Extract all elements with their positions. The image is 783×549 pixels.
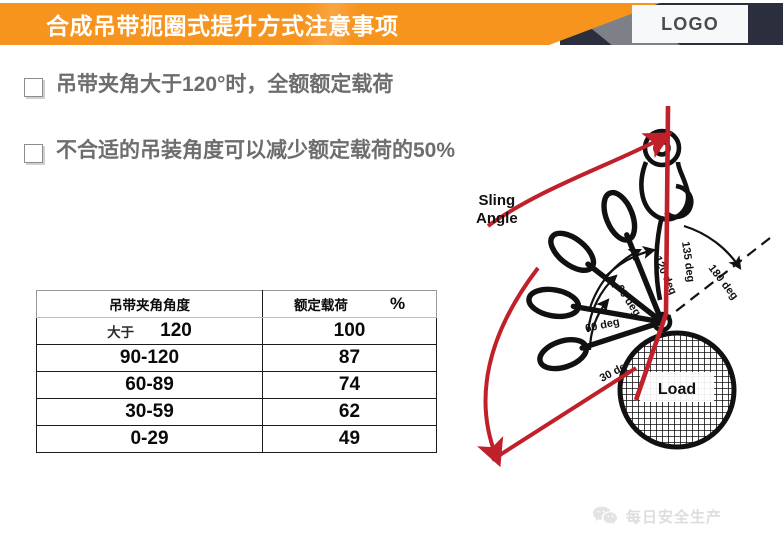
cell-rated: 62 (263, 399, 437, 426)
sling-angle-diagram: 30 deg 60 deg 90 deg 120 deg 135 deg 180… (440, 100, 783, 490)
square-outline-icon (24, 78, 43, 97)
sling-angle-line2: Angle (476, 210, 518, 228)
cell-angle: 30-59 (37, 399, 263, 426)
sling-angle-label: Sling Angle (476, 192, 518, 227)
column-header-angle: 吊带夹角角度 (37, 291, 263, 318)
cell-angle-value: 120 (160, 320, 192, 342)
table-header-row: 吊带夹角角度 额定载荷 % (37, 291, 437, 318)
column-header-rated: 额定载荷 % (263, 291, 437, 318)
cell-rated: 100 (263, 318, 437, 345)
load-label: Load (658, 381, 696, 398)
column-header-unit: % (390, 294, 405, 314)
list-item: 吊带夹角大于120°时，全额额定载荷 (24, 72, 584, 98)
table-row: 30-59 62 (37, 399, 437, 426)
logo-text: LOGO (661, 14, 719, 35)
red-diagonal-lower (492, 368, 636, 460)
watermark: 每日安全生产 (592, 505, 722, 527)
cell-rated: 74 (263, 372, 437, 399)
page-title: 合成吊带扼圈式提升方式注意事项 (46, 3, 399, 45)
bullet-text: 吊带夹角大于120°时，全额额定载荷 (56, 72, 393, 98)
wechat-icon (592, 505, 618, 527)
square-outline-icon (24, 144, 43, 163)
table-row: 0-29 49 (37, 426, 437, 453)
cell-angle: 60-89 (37, 372, 263, 399)
sling-diagram-svg: 30 deg 60 deg 90 deg 120 deg 135 deg 180… (440, 100, 783, 490)
angle-label-135: 135 deg (679, 241, 697, 283)
bullet-text: 不合适的吊装角度可以减少额定载荷的50% (56, 138, 455, 164)
cell-rated: 49 (263, 426, 437, 453)
rated-load-table: 吊带夹角角度 额定载荷 % 大于 120 (36, 290, 436, 453)
table-row: 90-120 87 (37, 345, 437, 372)
watermark-text: 每日安全生产 (626, 506, 722, 527)
cell-rated: 87 (263, 345, 437, 372)
cell-angle: 大于 120 (37, 318, 263, 345)
cell-angle: 0-29 (37, 426, 263, 453)
table-row: 60-89 74 (37, 372, 437, 399)
angle-label-180: 180 deg (706, 262, 741, 302)
slide: 合成吊带扼圈式提升方式注意事项 LOGO 吊带夹角大于120°时，全额额定载荷 … (0, 0, 783, 549)
cell-angle: 90-120 (37, 345, 263, 372)
column-header-rated-label: 额定载荷 (294, 294, 348, 314)
logo-placeholder: LOGO (632, 5, 748, 43)
table-row: 大于 120 100 (37, 318, 437, 345)
sling-angle-line1: Sling (476, 192, 518, 210)
cell-angle-prefix: 大于 (107, 321, 134, 341)
slide-header: 合成吊带扼圈式提升方式注意事项 LOGO (0, 0, 783, 47)
